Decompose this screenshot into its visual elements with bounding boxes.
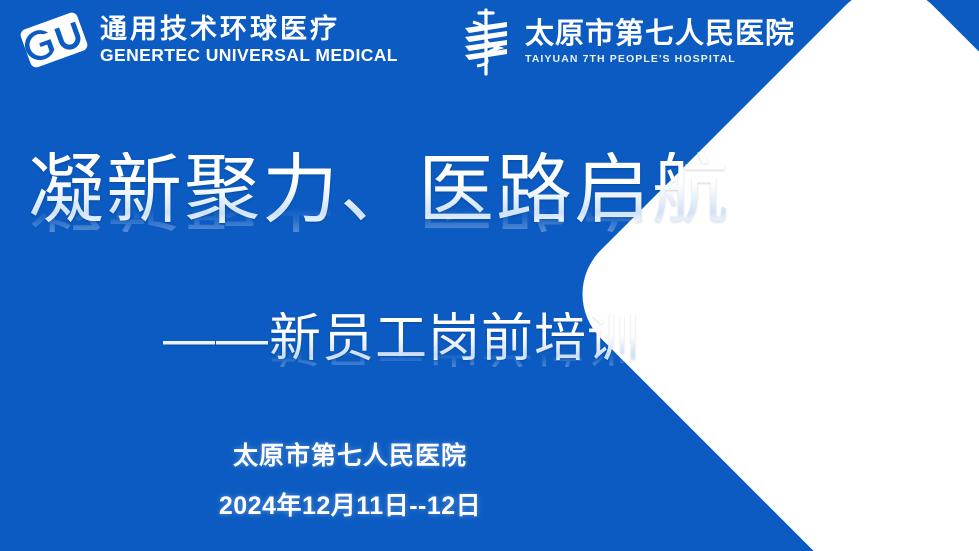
presentation-slide: 通用技术环球医疗 GENERTEC UNIVERSAL MEDICAL <box>0 0 979 551</box>
hospital-logo-text: 太原市第七人民医院 TAIYUAN 7TH PEOPLE'S HOSPITAL <box>525 19 795 64</box>
genertec-diamond-gu-logo-icon <box>18 12 90 68</box>
footer-date: 2024年12月11日--12日 <box>0 488 700 526</box>
hospital-name-cn: 太原市第七人民医院 <box>525 19 795 50</box>
logo-hospital: 太原市第七人民医院 TAIYUAN 7TH PEOPLE'S HOSPITAL <box>455 6 795 78</box>
footer-block: 太原市第七人民医院 2024年12月11日--12日 <box>0 438 700 525</box>
page-title-reflection: 凝新聚力、医路启航 <box>28 186 730 232</box>
subtitle-block: ——新员工岗前培训 ——新员工岗前培训 <box>163 312 640 397</box>
logo-genertec: 通用技术环球医疗 GENERTEC UNIVERSAL MEDICAL <box>18 12 398 68</box>
footer-organization: 太原市第七人民医院 <box>0 438 700 476</box>
genertec-logo-text: 通用技术环球医疗 GENERTEC UNIVERSAL MEDICAL <box>100 15 398 64</box>
white-rounded-diamond-small <box>842 394 979 551</box>
hospital-caduceus-logo-icon <box>455 6 517 78</box>
page-subtitle-reflection: ——新员工岗前培训 <box>163 337 640 367</box>
genertec-name-cn: 通用技术环球医疗 <box>100 15 398 44</box>
hospital-name-en: TAIYUAN 7TH PEOPLE'S HOSPITAL <box>525 53 795 65</box>
genertec-name-en: GENERTEC UNIVERSAL MEDICAL <box>100 45 398 65</box>
main-title-block: 凝新聚力、医路启航 凝新聚力、医路启航 <box>28 152 730 278</box>
logo-bar: 通用技术环球医疗 GENERTEC UNIVERSAL MEDICAL <box>0 0 979 88</box>
